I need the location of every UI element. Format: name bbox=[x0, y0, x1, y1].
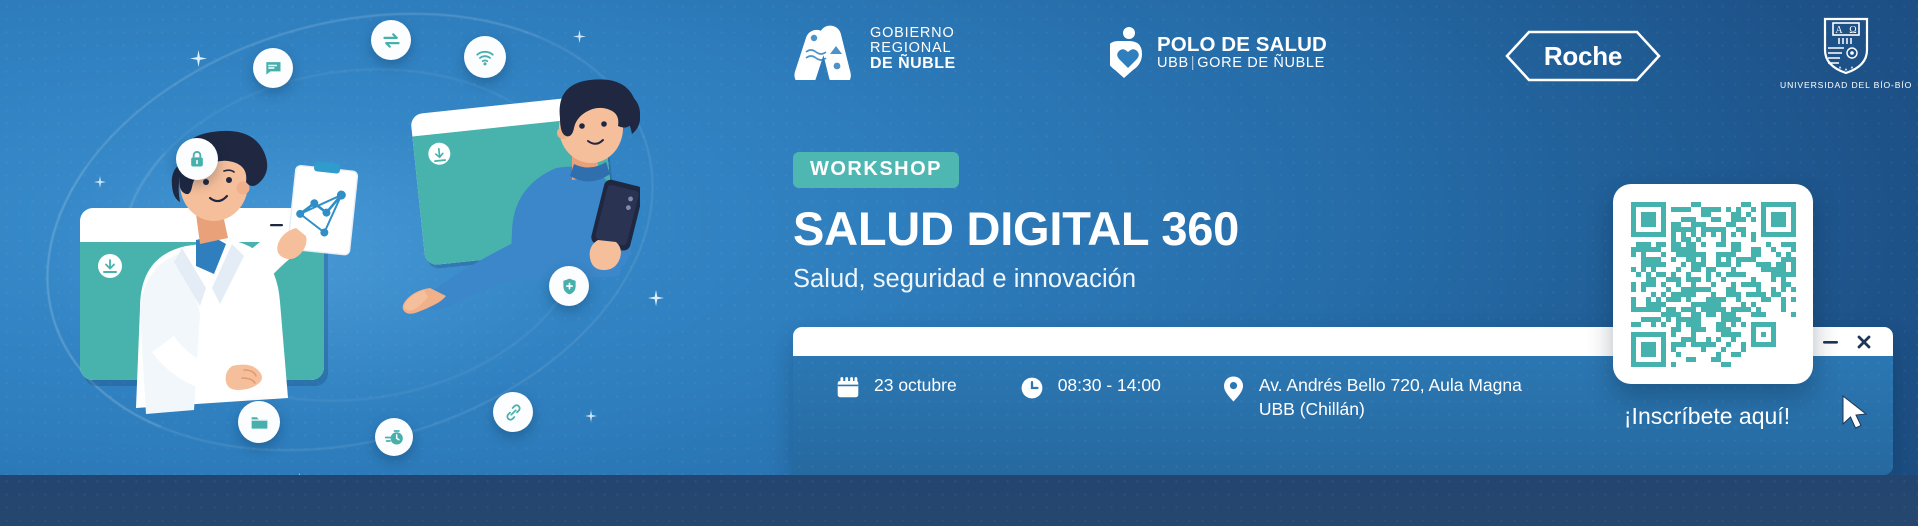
minimize-icon[interactable] bbox=[1822, 337, 1839, 347]
illustration-artwork bbox=[0, 0, 640, 470]
event-banner: GOBIERNO REGIONAL DE ÑUBLE POLO DE SALUD… bbox=[0, 0, 1918, 526]
universidad-del-bio-bio-logo: A Ω UNIVERSIDAD DEL BÍO-BÍO bbox=[1780, 16, 1912, 90]
gore-crest-icon bbox=[790, 18, 860, 80]
sync-arrows-icon bbox=[371, 20, 411, 60]
ubb-crest-icon: A Ω bbox=[1820, 16, 1872, 76]
polo-line-2: UBB|GORE DE ÑUBLE bbox=[1157, 56, 1327, 71]
page-subtitle: Salud, seguridad e innovación bbox=[793, 265, 1239, 294]
location-pin-icon bbox=[1221, 375, 1246, 408]
svg-text:A: A bbox=[1835, 25, 1843, 36]
gore-line-1: GOBIERNO bbox=[870, 26, 956, 41]
svg-text:Ω: Ω bbox=[1849, 25, 1856, 36]
polo-ubb: UBB bbox=[1157, 55, 1189, 71]
sparkle-icon bbox=[648, 290, 664, 306]
title-block: WORKSHOP SALUD DIGITAL 360 Salud, seguri… bbox=[793, 152, 1239, 294]
ubb-wordmark: UNIVERSIDAD DEL BÍO-BÍO bbox=[1780, 80, 1912, 90]
event-location: Av. Andrés Bello 720, Aula Magna UBB (Ch… bbox=[1221, 374, 1522, 421]
qr-code[interactable] bbox=[1631, 202, 1796, 367]
event-meta-row: 23 octubre 08:30 - 14:00 bbox=[835, 374, 1522, 421]
shield-plus-icon bbox=[549, 266, 589, 306]
qr-caption: ¡Inscríbete aquí! bbox=[1601, 403, 1813, 430]
polo-de-salud-logo: POLO DE SALUD UBB|GORE DE ÑUBLE bbox=[1110, 26, 1327, 80]
wifi-icon bbox=[464, 36, 506, 78]
polo-person-heart-icon bbox=[1110, 26, 1146, 80]
event-date: 23 octubre bbox=[835, 374, 957, 406]
roche-logo: Roche bbox=[1503, 30, 1663, 82]
hero-illustration bbox=[0, 0, 640, 470]
stopwatch-icon bbox=[375, 418, 413, 456]
calendar-icon bbox=[835, 375, 861, 406]
polo-gore: GORE DE ÑUBLE bbox=[1197, 55, 1325, 71]
mouse-cursor-icon bbox=[1840, 394, 1870, 437]
sponsor-logos: GOBIERNO REGIONAL DE ÑUBLE POLO DE SALUD… bbox=[790, 18, 1898, 96]
event-location-text: Av. Andrés Bello 720, Aula Magna UBB (Ch… bbox=[1259, 374, 1522, 421]
roche-wordmark: Roche bbox=[1544, 41, 1622, 72]
clock-icon bbox=[1019, 375, 1045, 406]
close-icon[interactable] bbox=[1857, 335, 1871, 349]
registration-qr-block[interactable]: ¡Inscríbete aquí! bbox=[1613, 184, 1813, 430]
lock-icon bbox=[176, 138, 218, 180]
link-icon bbox=[493, 392, 533, 432]
event-date-text: 23 octubre bbox=[874, 374, 957, 398]
bottom-band-texture bbox=[0, 475, 1918, 526]
gore-line-2: REGIONAL bbox=[870, 41, 956, 56]
gore-line-3: DE ÑUBLE bbox=[870, 56, 956, 72]
polo-line-1: POLO DE SALUD bbox=[1157, 34, 1327, 56]
event-time: 08:30 - 14:00 bbox=[1019, 374, 1161, 406]
chat-bubble-icon bbox=[253, 48, 293, 88]
event-time-text: 08:30 - 14:00 bbox=[1058, 374, 1161, 398]
workshop-badge: WORKSHOP bbox=[793, 152, 959, 188]
bottom-band bbox=[0, 475, 1918, 526]
polo-separator: | bbox=[1189, 55, 1197, 71]
qr-card[interactable] bbox=[1613, 184, 1813, 384]
page-title: SALUD DIGITAL 360 bbox=[793, 205, 1239, 252]
gobierno-regional-de-nuble-logo: GOBIERNO REGIONAL DE ÑUBLE bbox=[790, 18, 956, 80]
folder-icon bbox=[238, 401, 280, 443]
